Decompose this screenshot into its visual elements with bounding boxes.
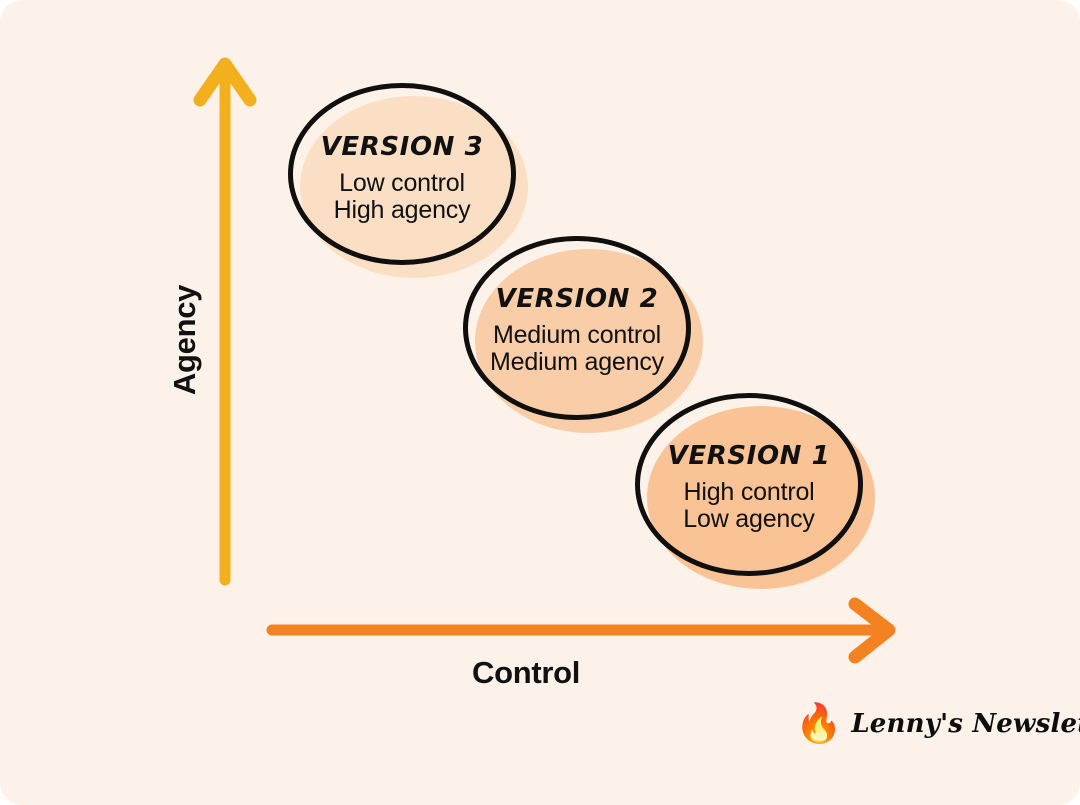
bubble-line2-version-2: Medium agency [463,348,691,377]
bubble-title-version-2: VERSION 2 [463,286,691,313]
y-axis-label: Agency [167,240,203,440]
newsletter-logo[interactable]: 🔥 Lenny's Newsletter [795,705,1080,743]
newsletter-wordmark: Lenny's Newsletter [851,709,1080,739]
x-axis-arrow [272,604,889,657]
bubble-line1-version-2: Medium control [463,321,691,350]
bubble-line1-version-3: Low control [288,169,516,198]
bubble-line2-version-3: High agency [288,196,516,225]
y-axis-arrow [200,64,250,580]
bubble-title-version-3: VERSION 3 [288,134,516,161]
bubble-line2-version-1: Low agency [635,505,863,534]
right-arrow-icon [855,604,889,657]
bubble-title-version-1: VERSION 1 [635,443,863,470]
bubble-version-1[interactable]: VERSION 1 High control Low agency [635,393,875,589]
diagram-canvas: Agency Control VERSION 3 Low control Hig… [0,0,1080,805]
bubble-line1-version-1: High control [635,478,863,507]
x-axis-label: Control [472,655,580,691]
campfire-icon: 🔥 [795,705,842,743]
up-arrow-icon [200,64,250,100]
